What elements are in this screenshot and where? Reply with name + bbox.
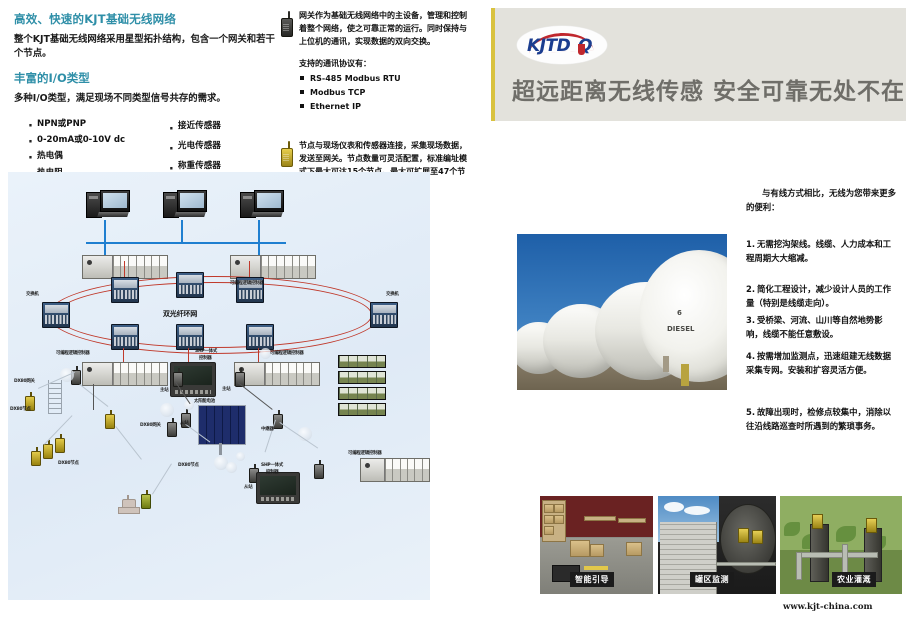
gateway-note: 网关作为基础无线网络中的主设备，管理和控制着整个网络，使之可靠正常的运行。同时保… xyxy=(278,10,474,114)
fiber-link xyxy=(124,261,125,277)
benefit-item-3: 3. 受桥梁、河流、山川等自然地势影响，线缆不能任意敷设。 xyxy=(746,313,896,342)
signal-wire xyxy=(152,463,172,494)
protocol-item: Ethernet IP xyxy=(299,100,474,114)
diagram-label: 控制器 xyxy=(199,355,212,361)
io-module-block xyxy=(338,403,386,416)
website-url: www.kjt-china.com xyxy=(783,602,873,612)
workstation-pc xyxy=(163,190,207,220)
middle-notes-column: 网关作为基础无线网络中的主设备，管理和控制着整个网络，使之可靠正常的运行。同时保… xyxy=(278,10,474,192)
bus-drop xyxy=(104,220,106,243)
diagram-label: 太阳能电池 xyxy=(194,398,215,404)
ethernet-bus xyxy=(86,242,286,244)
application-photo-strip: 智能引导 罐区监测 农业灌溉 xyxy=(540,496,902,594)
switch-bottom-left xyxy=(111,324,139,350)
diagram-label: 可编程逻辑控制器 xyxy=(230,280,264,286)
paragraph-wireless-network: 整个KJT基础无线网络采用星型拓扑结构，包含一个网关和若干个节点。 xyxy=(14,33,276,60)
benefit-number: 2. xyxy=(746,282,757,296)
bus-drop xyxy=(104,242,106,255)
photo-caption: 智能引导 xyxy=(570,572,614,587)
benefit-text: 简化工程设计，减少设计人员的工作量（特别是线缆走向）。 xyxy=(746,284,891,308)
io-item: 0-20mA或0-10V dc xyxy=(28,132,155,148)
gateway-note-text: 网关作为基础无线网络中的主设备，管理和控制着整个网络，使之可靠正常的运行。同时保… xyxy=(299,10,474,49)
benefit-text: 按需增加监测点，迅速组建无线数据采集专网。安装和扩容灵活方便。 xyxy=(746,351,891,375)
io-module-block xyxy=(338,355,386,368)
diagram-label: 中继器 xyxy=(261,426,274,432)
wireless-node-valve xyxy=(140,490,150,507)
signal-antenna-icon xyxy=(236,452,245,461)
tank-leg xyxy=(663,356,669,372)
wireless-node xyxy=(313,460,323,477)
benefit-item-5: 5. 故障出现时，检修点较集中，消除以往沿线路巡查时所遇到的繁琐事务。 xyxy=(746,405,896,434)
heading-wireless-network: 高效、快速的KJT基础无线网络 xyxy=(14,12,276,27)
benefit-text: 受桥梁、河流、山川等自然地势影响，线缆不能任意敷设。 xyxy=(746,315,883,339)
protocol-list: RS-485 Modbus RTU Modbus TCP Ethernet IP xyxy=(299,72,474,114)
band-tagline: 超远距离无线传感 安全可靠无处不在 xyxy=(512,72,905,106)
fiber-ring-label: 双光纤环网 xyxy=(163,309,197,319)
tank-valve xyxy=(681,364,689,386)
benefit-number: 4. xyxy=(746,349,757,363)
benefit-number: 5. xyxy=(746,405,757,419)
switch-right xyxy=(370,302,398,328)
io-item: 接近传感器 xyxy=(169,116,276,136)
tank-label-number: 6 xyxy=(677,308,682,319)
kjtdq-logo: KJTD Q xyxy=(517,26,607,64)
fiber-link xyxy=(188,348,189,362)
wireless-node xyxy=(172,368,182,385)
signal-wire xyxy=(93,384,94,410)
tank-label-diesel: DIESEL xyxy=(667,324,694,335)
shp-controller-field xyxy=(256,472,300,504)
bus-drop xyxy=(258,242,260,255)
logo-wordmark: KJTD xyxy=(527,36,570,56)
brand-header-band: KJTD Q 超远距离无线传感 安全可靠无处不在 xyxy=(491,8,906,121)
diagram-label: 交换机 xyxy=(386,291,399,297)
io-item: 光电传感器 xyxy=(169,136,276,156)
io-module-block xyxy=(338,371,386,384)
diagram-label: 从站 xyxy=(244,484,252,490)
plc-rack-far-right xyxy=(360,458,430,482)
benefit-item-2: 2. 简化工程设计，减少设计人员的工作量（特别是线缆走向）。 xyxy=(746,282,896,311)
protocol-item: RS-485 Modbus RTU xyxy=(299,72,474,86)
diagram-label: 交换机 xyxy=(26,291,39,297)
switch-top-left xyxy=(111,277,139,303)
diagram-label: SHP一体式 xyxy=(195,348,217,354)
wireless-gateway-node xyxy=(166,418,176,435)
protocol-heading: 支持的通讯协议有： xyxy=(299,58,474,69)
diagram-label: DX80节点 xyxy=(178,462,199,468)
wireless-node xyxy=(104,410,114,427)
logo-q-accent-icon xyxy=(578,44,585,55)
heading-io-types: 丰富的I/O类型 xyxy=(14,70,276,86)
wireless-benefits-column: 与有线方式相比，无线为您带来更多的便利： 1. 无需挖沟架线。线缆、人力成本和工… xyxy=(746,186,896,442)
switch-top-mid xyxy=(176,272,204,298)
fiber-link xyxy=(258,348,259,362)
field-valve xyxy=(118,495,138,513)
wireless-node xyxy=(54,434,64,451)
signal-wire xyxy=(265,420,276,453)
level-gauge-ladder xyxy=(48,380,62,414)
paragraph-io-types: 多种I/O类型，满足现场不同类型信号共存的需求。 xyxy=(14,92,276,106)
diagram-label: DX80节点 xyxy=(58,460,79,466)
benefit-item-1: 1. 无需挖沟架线。线缆、人力成本和工程周期大大缩减。 xyxy=(746,237,896,266)
diagram-label: 控制器 xyxy=(266,469,279,475)
fiber-link xyxy=(123,348,124,362)
benefit-text: 故障出现时，检修点较集中，消除以往沿线路巡查时所遇到的繁琐事务。 xyxy=(746,407,891,431)
wireless-node xyxy=(30,447,40,464)
fiber-ring-inner xyxy=(56,282,372,348)
io-module-block xyxy=(338,387,386,400)
wireless-node-icon xyxy=(278,141,294,167)
bus-drop xyxy=(258,220,260,243)
benefit-number: 3. xyxy=(746,313,757,327)
bus-drop xyxy=(181,220,183,243)
diagram-label: 可编程逻辑控制器 xyxy=(348,450,382,456)
network-topology-diagram: 双光纤环网 xyxy=(8,172,430,600)
diagram-label: 主站 xyxy=(160,387,168,393)
signal-antenna-icon xyxy=(226,462,237,473)
switch-left xyxy=(42,302,70,328)
io-item: 热电偶 xyxy=(28,148,155,164)
benefits-intro: 与有线方式相比，无线为您带来更多的便利： xyxy=(746,186,896,215)
diesel-tank-photo: 6 DIESEL xyxy=(517,234,727,390)
signal-antenna-icon xyxy=(160,403,174,417)
diagram-label: DX80网关 xyxy=(14,378,35,384)
solar-panel-pole xyxy=(219,443,222,455)
diagram-label: 主站 xyxy=(222,386,230,392)
plc-rack-top-right xyxy=(230,255,316,279)
photo-caption: 罐区监测 xyxy=(690,572,734,587)
photo-tank-monitoring: 罐区监测 xyxy=(658,496,776,594)
photo-intelligent-guidance: 智能引导 xyxy=(540,496,653,594)
diagram-label: 从站 xyxy=(180,420,188,426)
signal-wire xyxy=(115,426,141,460)
photo-agriculture-irrigation: 农业灌溉 xyxy=(780,496,902,594)
io-item: NPN或PNP xyxy=(28,116,155,132)
gateway-device-icon xyxy=(278,11,294,37)
switch-bottom-mid xyxy=(176,324,204,350)
benefit-text: 无需挖沟架线。线缆、人力成本和工程周期大大缩减。 xyxy=(746,239,891,263)
benefits-list: 1. 无需挖沟架线。线缆、人力成本和工程周期大大缩减。 2. 简化工程设计，减少… xyxy=(746,237,896,442)
switch-bottom-right xyxy=(246,324,274,350)
diagram-label: 可编程逻辑控制器 xyxy=(270,350,304,356)
protocol-item: Modbus TCP xyxy=(299,86,474,100)
diagram-label: 可编程逻辑控制器 xyxy=(56,350,90,356)
photo-caption: 农业灌溉 xyxy=(832,572,876,587)
brochure-page: 高效、快速的KJT基础无线网络 整个KJT基础无线网络采用星型拓扑结构，包含一个… xyxy=(0,0,910,618)
workstation-pc xyxy=(86,190,130,220)
workstation-pc xyxy=(240,190,284,220)
benefit-number: 1. xyxy=(746,237,757,251)
signal-wire xyxy=(280,422,319,448)
diagram-label: DX80网关 xyxy=(140,422,161,428)
plc-rack-bottom-left xyxy=(82,362,168,386)
fiber-link xyxy=(249,261,250,277)
plc-rack-bottom-right xyxy=(234,362,320,386)
diagram-label: DX80节点 xyxy=(10,406,31,412)
diagram-label: SHP一体式 xyxy=(261,462,283,468)
benefit-item-4: 4. 按需增加监测点，迅速组建无线数据采集专网。安装和扩容灵活方便。 xyxy=(746,349,896,378)
